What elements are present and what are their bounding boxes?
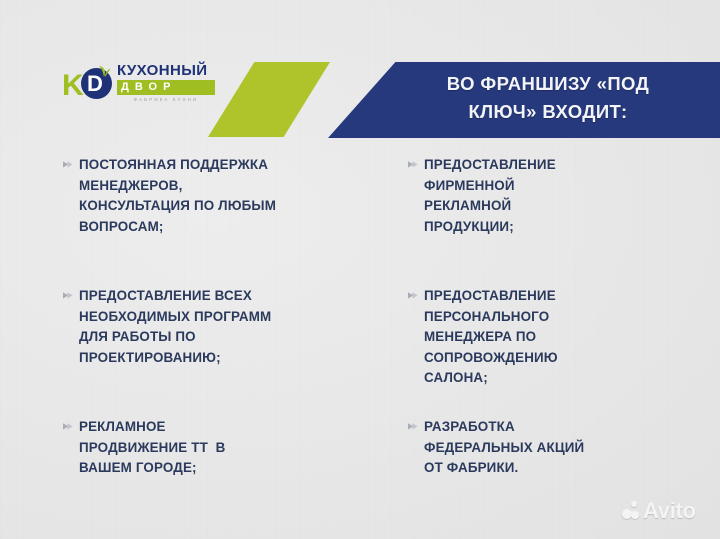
logo-name-line2: ДВОР xyxy=(117,80,215,95)
green-parallelogram-decoration xyxy=(208,62,330,137)
list-item-line: ДЛЯ РАБОТЫ ПО xyxy=(79,327,271,348)
list-item-text: ПРЕДОСТАВЛЕНИЕ ВСЕХ НЕОБХОДИМЫХ ПРОГРАММ… xyxy=(79,286,271,368)
logo-wordmark: КУХОННЫЙ ДВОР ФАБРИКА КУХНИ xyxy=(117,62,215,103)
list-item-line: ПРОДУКЦИИ; xyxy=(424,217,556,238)
list-item: ПОСТОЯННАЯ ПОДДЕРЖКА МЕНЕДЖЕРОВ, КОНСУЛЬ… xyxy=(62,155,276,237)
list-item-line: МЕНЕДЖЕРОВ, xyxy=(79,176,276,197)
list-item: ПРЕДОСТАВЛЕНИЕ ПЕРСОНАЛЬНОГО МЕНЕДЖЕРА П… xyxy=(407,286,558,389)
list-item-line: ФИРМЕННОЙ xyxy=(424,176,556,197)
list-item: РЕКЛАМНОЕ ПРОДВИЖЕНИЕ ТТ В ВАШЕМ ГОРОДЕ; xyxy=(62,417,225,479)
list-item: РАЗРАБОТКА ФЕДЕРАЛЬНЫХ АКЦИЙ ОТ ФАБРИКИ. xyxy=(407,417,584,479)
list-item-line: ФЕДЕРАЛЬНЫХ АКЦИЙ xyxy=(424,438,584,459)
brand-logo: K D КУХОННЫЙ ДВОР ФАБРИКА КУХНИ xyxy=(62,62,214,110)
chevron-right-icon xyxy=(407,420,420,433)
chevron-right-icon xyxy=(407,289,420,302)
list-item-line: РАЗРАБОТКА xyxy=(424,417,584,438)
list-item-line: ПРЕДОСТАВЛЕНИЕ xyxy=(424,286,558,307)
list-item: ПРЕДОСТАВЛЕНИЕ ВСЕХ НЕОБХОДИМЫХ ПРОГРАММ… xyxy=(62,286,271,368)
logo-name-line1: КУХОННЫЙ xyxy=(117,62,215,79)
title-banner: ВО ФРАНШИЗУ «ПОД КЛЮЧ» ВХОДИТ: xyxy=(328,62,720,138)
leaf-icon xyxy=(97,64,111,77)
list-item-text: ПОСТОЯННАЯ ПОДДЕРЖКА МЕНЕДЖЕРОВ, КОНСУЛЬ… xyxy=(79,155,276,237)
list-item-line: ПРЕДОСТАВЛЕНИЕ xyxy=(424,155,556,176)
list-item-line: ПРЕДОСТАВЛЕНИЕ ВСЕХ xyxy=(79,286,271,307)
list-item-line: МЕНЕДЖЕРА ПО xyxy=(424,327,558,348)
list-item-line: СОПРОВОЖДЕНИЮ xyxy=(424,348,558,369)
list-item-line: ОТ ФАБРИКИ. xyxy=(424,458,584,479)
list-item-text: ПРЕДОСТАВЛЕНИЕ ПЕРСОНАЛЬНОГО МЕНЕДЖЕРА П… xyxy=(424,286,558,389)
logo-tagline: ФАБРИКА КУХНИ xyxy=(117,97,215,103)
avito-watermark: Avito xyxy=(622,497,708,525)
chevron-right-icon xyxy=(62,158,75,171)
list-item: ПРЕДОСТАВЛЕНИЕ ФИРМЕННОЙ РЕКЛАМНОЙ ПРОДУ… xyxy=(407,155,556,237)
banner-title-line2: КЛЮЧ» ВХОДИТ: xyxy=(398,98,698,126)
list-item-line: РЕКЛАМНОЕ xyxy=(79,417,225,438)
list-item-line: ПРОДВИЖЕНИЕ ТТ В xyxy=(79,438,225,459)
list-item-text: РАЗРАБОТКА ФЕДЕРАЛЬНЫХ АКЦИЙ ОТ ФАБРИКИ. xyxy=(424,417,584,479)
list-item-line: ПРОЕКТИРОВАНИЮ; xyxy=(79,348,271,369)
list-item-line: КОНСУЛЬТАЦИЯ ПО ЛЮБЫМ xyxy=(79,196,276,217)
slide-header: K D КУХОННЫЙ ДВОР ФАБРИКА КУХНИ xyxy=(0,0,720,150)
chevron-right-icon xyxy=(62,420,75,433)
list-item-line: НЕОБХОДИМЫХ ПРОГРАММ xyxy=(79,307,271,328)
chevron-right-icon xyxy=(407,158,420,171)
list-item-text: РЕКЛАМНОЕ ПРОДВИЖЕНИЕ ТТ В ВАШЕМ ГОРОДЕ; xyxy=(79,417,225,479)
banner-title-line1: ВО ФРАНШИЗУ «ПОД xyxy=(398,70,698,98)
list-item-line: ПОСТОЯННАЯ ПОДДЕРЖКА xyxy=(79,155,276,176)
list-item-line: ВАШЕМ ГОРОДЕ; xyxy=(79,458,225,479)
list-item-line: ПЕРСОНАЛЬНОГО xyxy=(424,307,558,328)
list-item-line: ВОПРОСАМ; xyxy=(79,217,276,238)
slide-canvas: K D КУХОННЫЙ ДВОР ФАБРИКА КУХНИ xyxy=(0,0,720,539)
banner-title: ВО ФРАНШИЗУ «ПОД КЛЮЧ» ВХОДИТ: xyxy=(398,70,698,126)
list-item-line: САЛОНА; xyxy=(424,368,558,389)
list-item-text: ПРЕДОСТАВЛЕНИЕ ФИРМЕННОЙ РЕКЛАМНОЙ ПРОДУ… xyxy=(424,155,556,237)
avito-dots-icon xyxy=(622,501,643,522)
logo-letter-k: K xyxy=(62,71,83,101)
list-item-line: РЕКЛАМНОЙ xyxy=(424,196,556,217)
avito-wordmark: Avito xyxy=(643,500,696,522)
chevron-right-icon xyxy=(62,289,75,302)
logo-monogram: K D xyxy=(62,66,114,104)
